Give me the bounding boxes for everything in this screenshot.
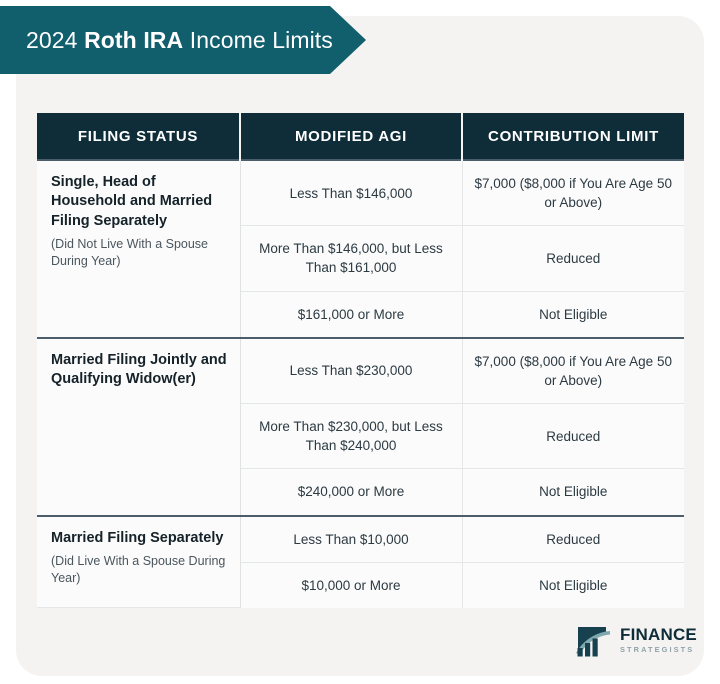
column-header-modified-agi: MODIFIED AGI xyxy=(240,113,462,160)
table-row: Married Filing Separately (Did Live With… xyxy=(37,516,684,563)
contribution-limit-cell: $7,000 ($8,000 if You Are Age 50 or Abov… xyxy=(462,160,684,226)
modified-agi-cell: More Than $230,000, but Less Than $240,0… xyxy=(240,404,462,469)
filing-status-note: (Did Live With a Spouse During Year) xyxy=(51,553,230,587)
modified-agi-cell: Less Than $10,000 xyxy=(240,516,462,563)
income-limits-table: FILING STATUS MODIFIED AGI CONTRIBUTION … xyxy=(37,113,684,608)
income-limits-table-wrapper: FILING STATUS MODIFIED AGI CONTRIBUTION … xyxy=(37,113,684,608)
page-title-rest: Income Limits xyxy=(183,27,333,53)
logo-primary-text: FINANCE xyxy=(620,626,697,643)
contribution-limit-cell: Reduced xyxy=(462,226,684,291)
table-row: Married Filing Jointly and Qualifying Wi… xyxy=(37,338,684,404)
table-header-row: FILING STATUS MODIFIED AGI CONTRIBUTION … xyxy=(37,113,684,160)
modified-agi-cell: Less Than $146,000 xyxy=(240,160,462,226)
contribution-limit-cell: Not Eligible xyxy=(462,291,684,338)
bar-chart-swoosh-icon xyxy=(576,624,614,657)
contribution-limit-cell: Reduced xyxy=(462,404,684,469)
roth-ira-income-limits-infographic: 2024 Roth IRA Income Limits FILING STATU… xyxy=(0,0,720,684)
page-title: 2024 Roth IRA Income Limits xyxy=(0,27,333,54)
column-header-contribution-limit: CONTRIBUTION LIMIT xyxy=(462,113,684,160)
column-header-filing-status: FILING STATUS xyxy=(37,113,240,160)
contribution-limit-cell: Reduced xyxy=(462,516,684,563)
contribution-limit-cell: Not Eligible xyxy=(462,469,684,516)
modified-agi-cell: $161,000 or More xyxy=(240,291,462,338)
finance-strategists-logo: FINANCE STRATEGISTS xyxy=(576,621,692,659)
filing-status-cell: Married Filing Jointly and Qualifying Wi… xyxy=(37,338,240,516)
table-body: Single, Head of Household and Married Fi… xyxy=(37,160,684,608)
title-banner: 2024 Roth IRA Income Limits xyxy=(0,6,366,74)
filing-status-cell: Married Filing Separately (Did Live With… xyxy=(37,516,240,608)
page-title-emphasis: Roth IRA xyxy=(84,27,183,53)
modified-agi-cell: $10,000 or More xyxy=(240,562,462,608)
logo-wordmark: FINANCE STRATEGISTS xyxy=(620,626,697,653)
filing-status-title: Single, Head of Household and Married Fi… xyxy=(51,173,230,231)
table-header: FILING STATUS MODIFIED AGI CONTRIBUTION … xyxy=(37,113,684,160)
modified-agi-cell: Less Than $230,000 xyxy=(240,338,462,404)
contribution-limit-cell: Not Eligible xyxy=(462,562,684,608)
filing-status-cell: Single, Head of Household and Married Fi… xyxy=(37,160,240,338)
table-row: Single, Head of Household and Married Fi… xyxy=(37,160,684,226)
contribution-limit-cell: $7,000 ($8,000 if You Are Age 50 or Abov… xyxy=(462,338,684,404)
modified-agi-cell: More Than $146,000, but Less Than $161,0… xyxy=(240,226,462,291)
page-title-year: 2024 xyxy=(26,27,84,53)
filing-status-note: (Did Not Live With a Spouse During Year) xyxy=(51,236,230,270)
filing-status-title: Married Filing Separately xyxy=(51,529,230,548)
modified-agi-cell: $240,000 or More xyxy=(240,469,462,516)
filing-status-title: Married Filing Jointly and Qualifying Wi… xyxy=(51,351,230,390)
logo-secondary-text: STRATEGISTS xyxy=(620,646,697,653)
